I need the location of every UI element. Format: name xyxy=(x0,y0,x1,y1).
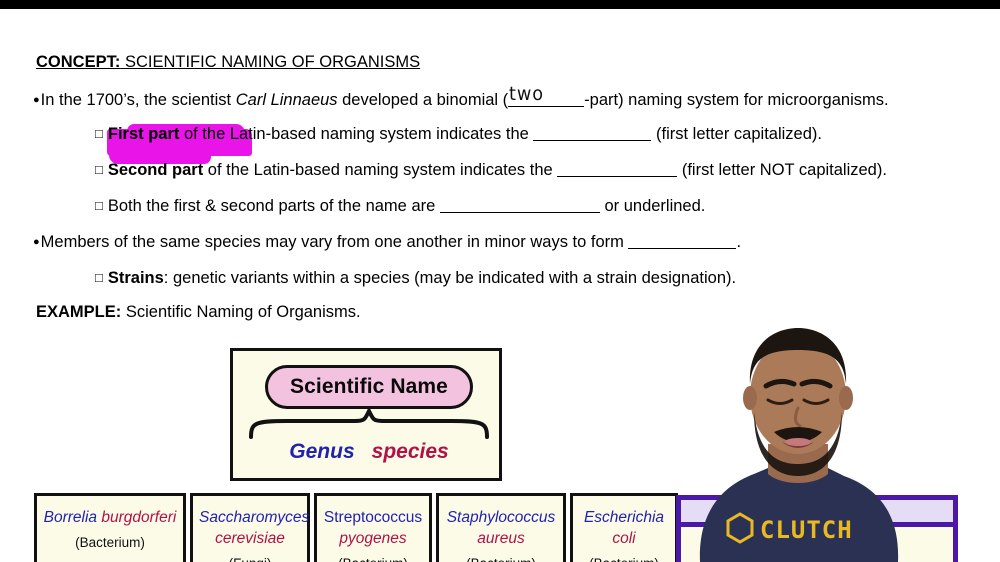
bullet-strains: □Strains: genetic variants within a spec… xyxy=(95,269,736,287)
bullet-1-mid: developed a binomial ( xyxy=(338,91,509,109)
organism-binomial: Borrelia burgdorferi xyxy=(43,508,177,529)
members-pre: Members of the same species may vary fro… xyxy=(41,233,629,251)
species-label: species xyxy=(372,440,449,463)
second-part-post: (first letter NOT capitalized). xyxy=(677,161,887,179)
second-part-pre: of the Latin-based naming system indicat… xyxy=(203,161,557,179)
answer-blank-genus[interactable] xyxy=(533,140,651,141)
bullet-dot-icon xyxy=(33,233,41,251)
organism-binomial: Staphylococcus aureus xyxy=(445,508,557,550)
handwritten-answer-blank[interactable]: two xyxy=(508,89,584,107)
organism-species: aureus xyxy=(477,530,524,547)
organism-genus: Streptococcus xyxy=(324,509,422,526)
concept-label: CONCEPT: xyxy=(36,53,120,71)
organism-genus: Saccharomyces xyxy=(199,509,309,526)
organism-binomial: Streptococcus pyogenes xyxy=(323,508,423,550)
slide-stage: CONCEPT: SCIENTIFIC NAMING OF ORGANISMS … xyxy=(0,0,1000,562)
checkbox-square-icon: □ xyxy=(95,270,103,285)
concept-title: SCIENTIFIC NAMING OF ORGANISMS xyxy=(125,53,420,71)
lecture-slide: CONCEPT: SCIENTIFIC NAMING OF ORGANISMS … xyxy=(0,9,1000,562)
organism-card: Streptococcus pyogenes (Bacterium) xyxy=(314,493,432,562)
checkbox-square-icon: □ xyxy=(95,198,103,213)
organism-species: coli xyxy=(612,530,635,547)
purple-diagram-box xyxy=(676,495,958,562)
checkbox-square-icon: □ xyxy=(95,162,103,177)
scientific-name-diagram: Scientific Name Genusspecies xyxy=(230,348,502,481)
first-part-bold: First part xyxy=(108,125,180,143)
answer-blank-italicized[interactable] xyxy=(440,212,600,213)
answer-blank-species[interactable] xyxy=(557,176,677,177)
organism-kind: (Bacterium) xyxy=(445,556,557,562)
concept-heading: CONCEPT: SCIENTIFIC NAMING OF ORGANISMS xyxy=(36,53,420,72)
purple-diagram-header xyxy=(681,500,953,527)
organism-species: burgdorferi xyxy=(101,509,176,526)
example-heading: EXAMPLE: Scientific Naming of Organisms. xyxy=(36,303,361,321)
top-black-bar xyxy=(0,0,1000,9)
organism-card: Staphylococcus aureus (Bacterium) xyxy=(436,493,566,562)
organism-species: pyogenes xyxy=(339,530,406,547)
bullet-dot-icon xyxy=(33,91,41,109)
bullet-first-part: □First part of the Latin-based naming sy… xyxy=(95,125,822,143)
example-label: EXAMPLE: xyxy=(36,303,121,321)
organism-genus: Staphylococcus xyxy=(447,509,556,526)
organism-kind: (Bacterium) xyxy=(579,556,669,562)
organism-genus: Borrelia xyxy=(44,509,97,526)
organism-genus: Escherichia xyxy=(584,509,664,526)
scientific-name-pill: Scientific Name xyxy=(265,365,473,409)
bullet-members-vary: Members of the same species may vary fro… xyxy=(33,233,741,251)
first-part-pre: of the Latin-based naming system indicat… xyxy=(179,125,533,143)
both-parts-post: or underlined. xyxy=(600,197,706,215)
bullet-both-parts: □Both the first & second parts of the na… xyxy=(95,197,705,215)
organism-binomial: Escherichia coli xyxy=(579,508,669,550)
curly-brace-icon xyxy=(247,409,491,439)
second-part-bold: Second part xyxy=(108,161,203,179)
bullet-1-pre: In the 1700’s, the scientist xyxy=(41,91,236,109)
members-post: . xyxy=(736,233,741,251)
both-parts-pre: Both the first & second parts of the nam… xyxy=(108,197,440,215)
organism-card: Escherichia coli (Bacterium) xyxy=(570,493,678,562)
strains-bold: Strains xyxy=(108,269,164,287)
organism-card: Saccharomyces cerevisiae (Fungi) xyxy=(190,493,310,562)
organism-kind: (Bacterium) xyxy=(323,556,423,562)
organism-species: cerevisiae xyxy=(215,530,285,547)
bullet-second-part: □Second part of the Latin-based naming s… xyxy=(95,161,887,179)
organism-binomial: Saccharomyces cerevisiae xyxy=(199,508,301,550)
strains-pre: : genetic variants within a species (may… xyxy=(164,269,736,287)
example-text: Scientific Naming of Organisms. xyxy=(126,303,361,321)
organism-card: Borrelia burgdorferi (Bacterium) xyxy=(34,493,186,562)
genus-label: Genus xyxy=(289,440,354,463)
first-part-post: (first letter capitalized). xyxy=(651,125,822,143)
organism-kind: (Fungi) xyxy=(199,556,301,562)
cell-blob-icon xyxy=(796,539,892,562)
organism-cards-row: Borrelia burgdorferi (Bacterium) Sacchar… xyxy=(34,493,682,562)
genus-species-row: Genusspecies xyxy=(233,440,505,464)
bullet-1-post: -part) naming system for microorganisms. xyxy=(584,91,888,109)
handwritten-answer-text: two xyxy=(509,84,544,105)
bullet-linnaeus: In the 1700’s, the scientist Carl Linnae… xyxy=(33,89,889,109)
bullet-1-italic: Carl Linnaeus xyxy=(236,91,338,109)
organism-kind: (Bacterium) xyxy=(43,535,177,550)
checkbox-square-icon: □ xyxy=(95,126,103,141)
answer-blank-strains[interactable] xyxy=(628,248,736,249)
scientific-name-pill-label: Scientific Name xyxy=(290,375,448,399)
